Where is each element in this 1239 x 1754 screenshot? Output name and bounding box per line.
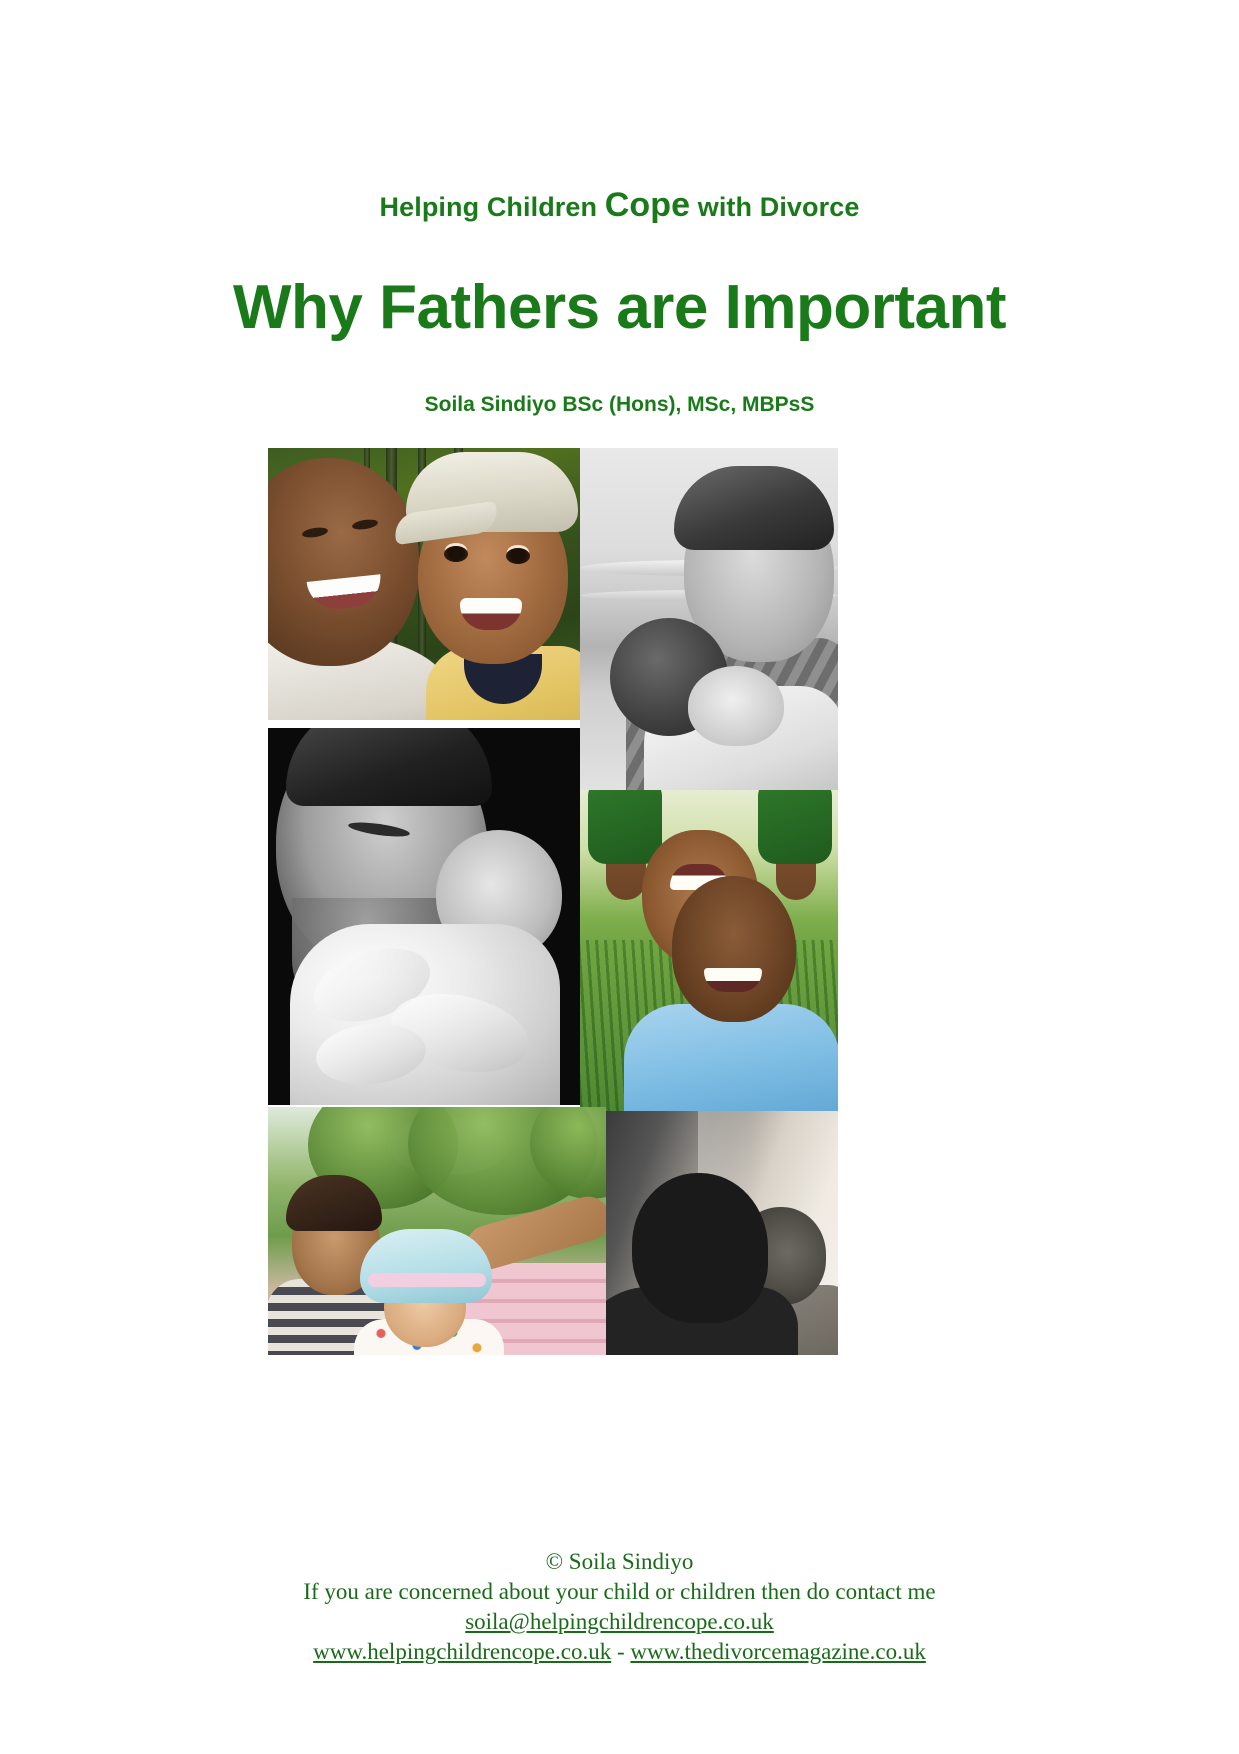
series-heading: Helping Children Cope with Divorce bbox=[0, 186, 1239, 225]
series-heading-emphasis: Cope bbox=[605, 186, 690, 224]
series-heading-after: with Divorce bbox=[690, 192, 859, 222]
photo-silhouette-of-father-and-baby bbox=[606, 1111, 838, 1355]
website-secondary-link[interactable]: www.thedivorcemagazine.co.uk bbox=[630, 1639, 925, 1664]
footer: © Soila Sindiyo If you are concerned abo… bbox=[0, 1547, 1239, 1667]
photo-father-cuddling-swaddled-newborn bbox=[268, 728, 580, 1105]
email-link[interactable]: soila@helpingchildrencope.co.uk bbox=[465, 1609, 774, 1634]
page-title: Why Fathers are Important bbox=[0, 272, 1239, 343]
series-heading-before: Helping Children bbox=[380, 192, 605, 222]
photo-father-kissing-newborn-at-beach bbox=[580, 448, 838, 790]
footer-email-line: soila@helpingchildrencope.co.uk bbox=[0, 1607, 1239, 1637]
website-separator: - bbox=[611, 1639, 630, 1664]
footer-contact-text: If you are concerned about your child or… bbox=[0, 1577, 1239, 1607]
footer-website-line: www.helpingchildrencope.co.uk - www.thed… bbox=[0, 1637, 1239, 1667]
website-primary-link[interactable]: www.helpingchildrencope.co.uk bbox=[313, 1639, 611, 1664]
photo-father-and-young-boy-in-cap bbox=[268, 448, 580, 720]
document-page: Helping Children Cope with Divorce Why F… bbox=[0, 0, 1239, 1754]
footer-copyright: © Soila Sindiyo bbox=[0, 1547, 1239, 1577]
author-byline: Soila Sindiyo BSc (Hons), MSc, MBPsS bbox=[0, 393, 1239, 417]
photo-collage bbox=[268, 448, 838, 1355]
photo-father-and-toddler-at-outdoor-market bbox=[268, 1107, 606, 1355]
photo-father-and-child-upside-down-on-grass bbox=[580, 790, 838, 1113]
